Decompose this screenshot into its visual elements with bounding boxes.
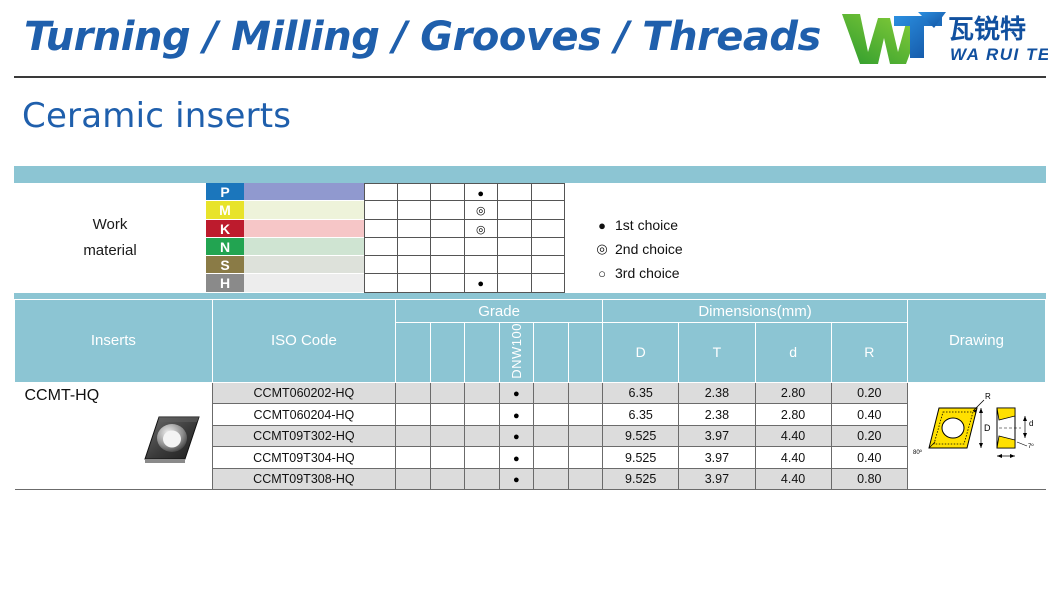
work-material-grid: P●M◎K◎NSH● <box>206 183 565 293</box>
grade-choice-cell <box>364 256 398 274</box>
grade-cell <box>534 404 569 426</box>
dimension-col-d: d <box>755 323 831 383</box>
dimension-cell-T: 2.38 <box>679 404 755 426</box>
work-material-label-line1: Work <box>93 212 128 238</box>
col-header-drawing: Drawing <box>907 300 1045 383</box>
grade-cell <box>396 425 431 447</box>
iso-code-cell: CCMT060204-HQ <box>212 404 395 426</box>
dimension-cell-D: 9.525 <box>603 447 679 469</box>
choice-marker: ◎ <box>476 205 486 217</box>
dimension-cell-T: 3.97 <box>679 447 755 469</box>
grade-choice-cell <box>398 183 432 201</box>
dimension-cell-d: 4.40 <box>755 425 831 447</box>
iso-code-cell: CCMT09T308-HQ <box>212 468 395 490</box>
grade-cell <box>465 404 500 426</box>
dimension-col-D: D <box>603 323 679 383</box>
grade-cell: ● <box>499 425 534 447</box>
choice-marker: ● <box>513 474 520 486</box>
grade-cell <box>534 468 569 490</box>
dimension-cell-R: 0.40 <box>831 447 907 469</box>
grade-cell <box>534 425 569 447</box>
grade-choice-cell: ● <box>465 274 499 292</box>
grade-choice-cell <box>431 220 465 238</box>
work-material-row: H● <box>206 274 565 292</box>
dimension-cell-d: 2.80 <box>755 382 831 404</box>
choice-marker: ● <box>513 410 520 422</box>
grade-cell <box>568 468 603 490</box>
material-group-m: M <box>206 201 244 219</box>
grade-choice-cell <box>498 201 532 219</box>
legend-label: 2nd choice <box>615 241 683 257</box>
choice-marker: ● <box>477 278 484 290</box>
header-title: Turning / Milling / Grooves / Threads <box>24 14 821 60</box>
material-color-bar <box>244 183 364 201</box>
grade-choice-cell <box>498 238 532 256</box>
grade-choice-cell <box>364 201 398 219</box>
work-material-row: N <box>206 238 565 256</box>
dimension-cell-D: 9.525 <box>603 468 679 490</box>
grade-choice-cell <box>532 238 566 256</box>
grade-cell <box>534 447 569 469</box>
grade-cell <box>430 425 465 447</box>
grade-choice-cell <box>498 274 532 292</box>
logo-latin: WA RUI TE <box>950 45 1048 64</box>
dimension-cell-T: 2.38 <box>679 382 755 404</box>
grade-choice-cell <box>431 274 465 292</box>
dimension-col-R: R <box>831 323 907 383</box>
technical-drawing-cell: RD80ºd7º <box>907 382 1045 490</box>
grade-cell <box>396 468 431 490</box>
material-group-n: N <box>206 238 244 256</box>
grade-choice-cell <box>398 256 432 274</box>
grade-cell <box>396 404 431 426</box>
work-material-row: K◎ <box>206 220 565 238</box>
grade-choice-cell <box>364 274 398 292</box>
grade-col-dnw100: DNW100 <box>499 323 534 383</box>
grade-choice-cell <box>431 201 465 219</box>
grade-choice-cell <box>431 256 465 274</box>
dimension-cell-R: 0.40 <box>831 404 907 426</box>
choice-marker: ● <box>513 388 520 400</box>
table-body: CCMT-HQCCMT060202-HQ●6.352.382.800.20RD8… <box>15 382 1046 490</box>
logo-chinese: 瓦锐特 <box>948 14 1026 45</box>
inserts-table: Inserts ISO Code Grade Dimensions(mm) Dr… <box>14 299 1046 490</box>
grade-cell <box>465 468 500 490</box>
grade-cell: ● <box>499 404 534 426</box>
work-material-row: P● <box>206 183 565 201</box>
grade-choice-cell <box>532 183 566 201</box>
dimension-cell-d: 4.40 <box>755 447 831 469</box>
iso-code-cell: CCMT060202-HQ <box>212 382 395 404</box>
legend-item: ○3rd choice <box>589 261 683 285</box>
grade-cell <box>465 425 500 447</box>
grade-choice-cell <box>398 238 432 256</box>
material-color-bar <box>244 274 364 292</box>
grade-cell <box>465 382 500 404</box>
dimension-cell-d: 2.80 <box>755 404 831 426</box>
grade-choice-cell <box>398 220 432 238</box>
material-group-k: K <box>206 220 244 238</box>
work-material-row: M◎ <box>206 201 565 219</box>
grade-cell <box>430 468 465 490</box>
legend-item: ◎2nd choice <box>589 237 683 261</box>
grade-col-empty <box>465 323 500 383</box>
material-color-bar <box>244 238 364 256</box>
dimension-cell-d: 4.40 <box>755 468 831 490</box>
col-header-inserts: Inserts <box>15 300 213 383</box>
grade-col-empty <box>430 323 465 383</box>
page-title: Ceramic inserts <box>22 96 291 136</box>
insert-technical-drawing: RD80ºd7º <box>911 386 1043 486</box>
company-logo: 瓦锐特 WA RUI TE <box>838 8 1048 70</box>
grade-choice-cell <box>532 220 566 238</box>
material-color-bar <box>244 256 364 274</box>
col-header-iso-code: ISO Code <box>212 300 395 383</box>
grade-cell: ● <box>499 468 534 490</box>
table-top-band <box>14 166 1046 183</box>
grade-cell <box>396 447 431 469</box>
grade-cell <box>568 382 603 404</box>
grade-cell <box>568 404 603 426</box>
page-header: Turning / Milling / Grooves / Threads <box>0 0 1060 78</box>
grade-choice-cell <box>532 274 566 292</box>
grade-col-empty <box>568 323 603 383</box>
material-group-h: H <box>206 274 244 292</box>
grade-cell <box>568 425 603 447</box>
choice-marker: ● <box>477 188 484 200</box>
grade-choice-cell <box>398 274 432 292</box>
col-header-dimensions: Dimensions(mm) <box>603 300 908 323</box>
grade-name-label: DNW100 <box>509 323 524 379</box>
grade-choice-cell <box>398 201 432 219</box>
col-header-grade: Grade <box>396 300 603 323</box>
work-material-label-line2: material <box>83 238 136 264</box>
grade-choice-cell: ● <box>465 183 499 201</box>
product-table: Work material P●M◎K◎NSH● ●1st choice◎2nd… <box>14 166 1046 490</box>
grade-cell <box>430 447 465 469</box>
header-divider <box>14 76 1046 78</box>
insert-family-cell: CCMT-HQ <box>15 382 213 490</box>
dimension-cell-R: 0.20 <box>831 382 907 404</box>
grade-choice-cell <box>498 220 532 238</box>
label-included-angle: 80º <box>913 449 923 456</box>
dimension-cell-D: 9.525 <box>603 425 679 447</box>
grade-choice-cell <box>465 256 499 274</box>
work-material-label: Work material <box>14 183 206 293</box>
grade-choice-cell <box>364 220 398 238</box>
dimension-col-T: T <box>679 323 755 383</box>
choice-marker: ● <box>513 453 520 465</box>
grade-cell: ● <box>499 382 534 404</box>
legend-marker-icon: ◎ <box>589 241 615 257</box>
grade-cell: ● <box>499 447 534 469</box>
label-diameter: D <box>984 423 991 433</box>
grade-choice-cell <box>532 256 566 274</box>
insert-photo <box>141 413 203 470</box>
catalog-page: Turning / Milling / Grooves / Threads <box>0 0 1060 600</box>
legend-marker-icon: ○ <box>589 266 615 281</box>
choice-marker: ◎ <box>476 224 486 236</box>
grade-cell <box>534 382 569 404</box>
legend-item: ●1st choice <box>589 213 683 237</box>
dimension-cell-R: 0.80 <box>831 468 907 490</box>
grade-choice-cell <box>465 238 499 256</box>
work-material-block: Work material P●M◎K◎NSH● ●1st choice◎2nd… <box>14 183 1046 293</box>
legend-label: 1st choice <box>615 217 678 233</box>
label-clearance-angle: 7º <box>1028 443 1034 450</box>
grade-choice-cell <box>431 183 465 201</box>
table-row[interactable]: CCMT-HQCCMT060202-HQ●6.352.382.800.20RD8… <box>15 382 1046 404</box>
label-hole: d <box>1029 419 1033 428</box>
choice-marker: ● <box>513 431 520 443</box>
grade-choice-cell <box>532 201 566 219</box>
material-group-s: S <box>206 256 244 274</box>
table-header: Inserts ISO Code Grade Dimensions(mm) Dr… <box>15 300 1046 383</box>
grade-choice-cell: ◎ <box>465 220 499 238</box>
material-color-bar <box>244 201 364 219</box>
choice-legend: ●1st choice◎2nd choice○3rd choice <box>589 213 683 285</box>
grade-choice-cell <box>364 183 398 201</box>
grade-col-empty <box>396 323 431 383</box>
grade-cell <box>430 382 465 404</box>
grade-choice-cell <box>498 256 532 274</box>
grade-cell <box>430 404 465 426</box>
grade-cell <box>465 447 500 469</box>
legend-marker-icon: ● <box>589 218 615 233</box>
dimension-cell-R: 0.20 <box>831 425 907 447</box>
grade-choice-cell <box>364 238 398 256</box>
dimension-cell-T: 3.97 <box>679 425 755 447</box>
grade-cell <box>568 447 603 469</box>
material-color-bar <box>244 220 364 238</box>
iso-code-cell: CCMT09T304-HQ <box>212 447 395 469</box>
iso-code-cell: CCMT09T302-HQ <box>212 425 395 447</box>
work-material-row: S <box>206 256 565 274</box>
insert-family-name: CCMT-HQ <box>25 387 100 405</box>
grade-choice-cell <box>498 183 532 201</box>
dimension-cell-D: 6.35 <box>603 382 679 404</box>
grade-choice-cell: ◎ <box>465 201 499 219</box>
dimension-cell-D: 6.35 <box>603 404 679 426</box>
label-corner-radius: R <box>985 392 991 401</box>
grade-choice-cell <box>431 238 465 256</box>
grade-col-empty <box>534 323 569 383</box>
material-group-p: P <box>206 183 244 201</box>
dimension-cell-T: 3.97 <box>679 468 755 490</box>
grade-cell <box>396 382 431 404</box>
legend-label: 3rd choice <box>615 265 680 281</box>
